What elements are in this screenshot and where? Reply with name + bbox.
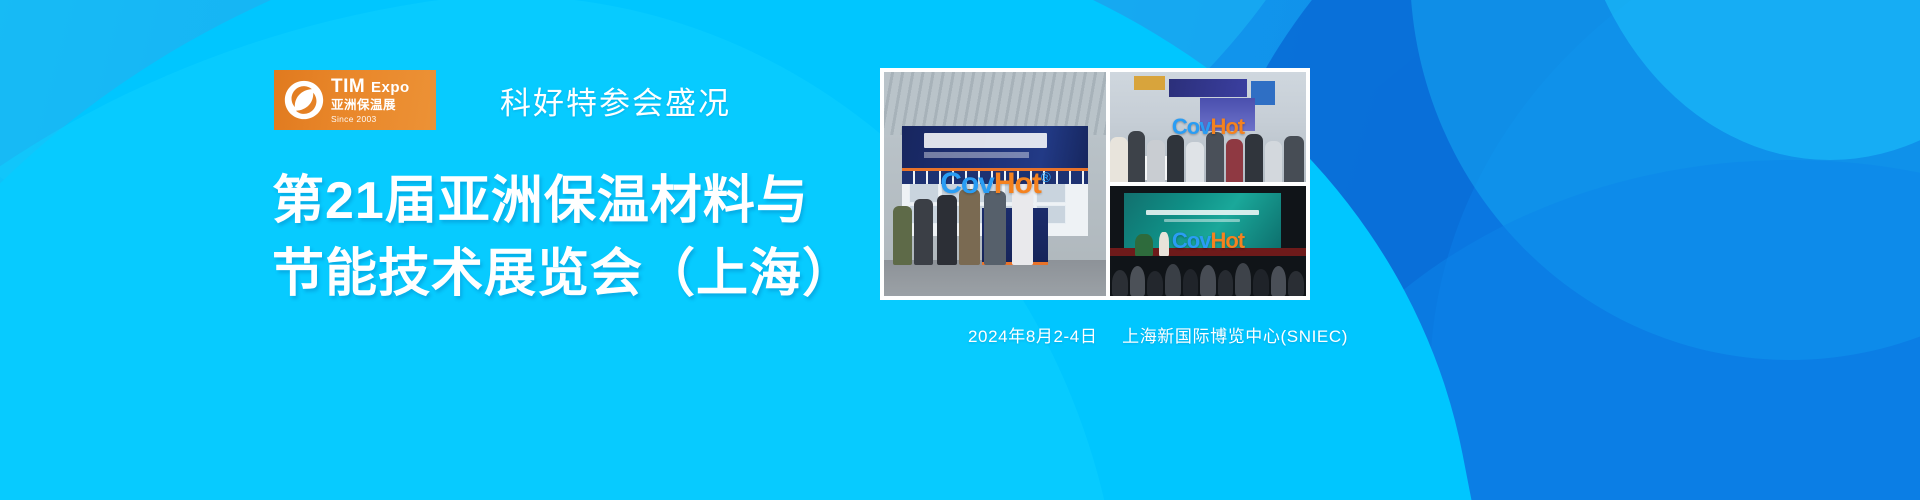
swirl-mark-icon	[281, 77, 327, 123]
forum-audience	[1110, 245, 1306, 296]
booth-floor	[884, 260, 1106, 296]
event-date-venue: 2024年8月2-4日 上海新国际博览中心(SNIEC)	[968, 322, 1348, 347]
tim-expo-logo[interactable]: TIM Expo 亚洲保温展 Since 2003	[274, 70, 436, 130]
headline-line-2: 节能技术展览会（上海）	[272, 238, 855, 311]
booth-visitors	[888, 171, 1101, 265]
banner-subtitle: 科好特参会盛况	[500, 78, 731, 123]
logo-text-block: TIM Expo 亚洲保温展 Since 2003	[331, 77, 410, 124]
headline-line-1: 第21届亚洲保温材料与	[272, 165, 855, 238]
banner-headline: 第21届亚洲保温材料与 节能技术展览会（上海）	[272, 165, 855, 311]
forum-auditorium-photo[interactable]: CovHot	[1110, 186, 1306, 296]
logo-title-sub: Expo	[371, 79, 410, 96]
exhibition-hall-crowd-photo[interactable]: CovHot	[1110, 72, 1306, 182]
photo-collage: CovHot®	[880, 68, 1310, 300]
event-date: 2024年8月2-4日	[968, 327, 1097, 346]
collage-right-column: CovHot	[1110, 72, 1306, 296]
logo-title-main: TIM	[331, 76, 365, 97]
exhibition-booth-photo[interactable]: CovHot®	[884, 72, 1106, 296]
hall-crowd	[1110, 118, 1306, 182]
logo-since-label: Since 2003	[331, 115, 410, 124]
event-banner: TIM Expo 亚洲保温展 Since 2003 科好特参会盛况 第21届亚洲…	[0, 0, 1920, 500]
logo-title: TIM Expo	[331, 77, 410, 96]
hall-side-sign	[1134, 76, 1165, 89]
booth-company-banner	[902, 126, 1088, 172]
hall-overhead-sign	[1169, 79, 1247, 98]
event-venue: 上海新国际博览中心(SNIEC)	[1122, 327, 1348, 346]
logo-title-cn: 亚洲保温展	[331, 99, 410, 112]
